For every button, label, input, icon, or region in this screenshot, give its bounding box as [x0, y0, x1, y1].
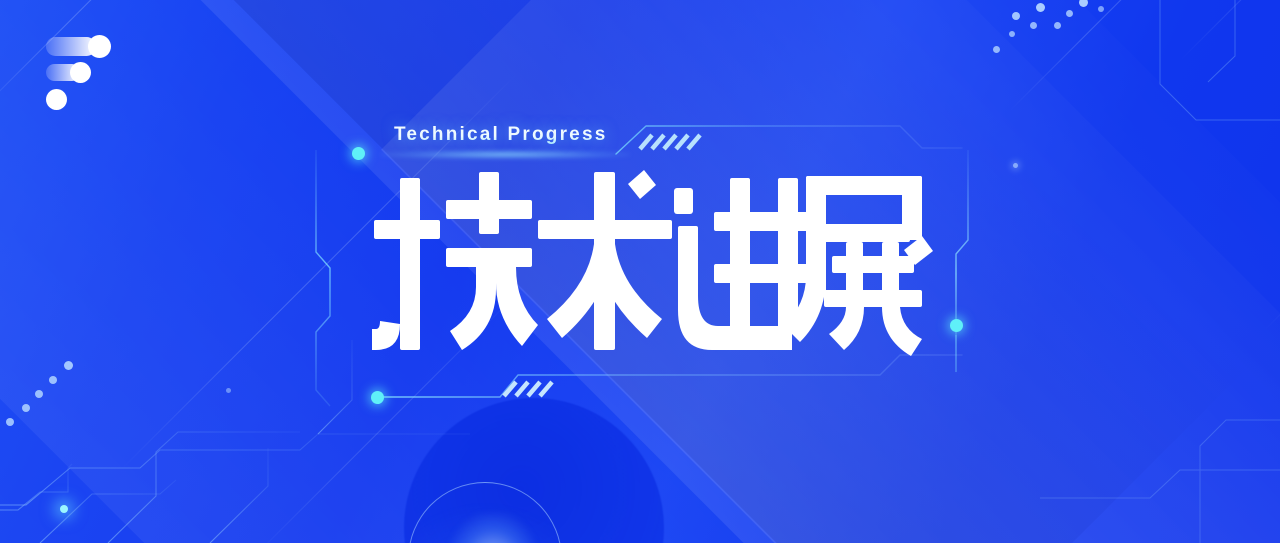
f-logo[interactable] — [46, 33, 118, 95]
circuit-traces-top-right — [1160, 0, 1280, 120]
headline-glyphs — [372, 170, 933, 356]
frame-right-segment — [956, 150, 968, 375]
node-top-left — [352, 147, 365, 160]
page-title — [372, 164, 912, 364]
node-right — [950, 319, 963, 332]
glyph-zhan — [784, 176, 933, 356]
circuit-traces-bottom-left — [0, 340, 470, 543]
sparkle-mid-left — [226, 388, 231, 393]
circuit-traces-bottom-right — [1040, 420, 1280, 543]
logo-dot-top — [88, 35, 111, 58]
logo-dot-middle — [70, 62, 91, 83]
logo-dot-bottom — [46, 89, 67, 110]
node-bottom-left — [371, 391, 384, 404]
frame-left-segment — [316, 150, 330, 406]
hatch-marks-top — [640, 135, 700, 149]
sparkle-right — [1013, 163, 1018, 168]
glyph-ji — [372, 172, 538, 350]
banner: Technical Progress — [0, 0, 1280, 543]
glyph-shu — [538, 170, 672, 350]
eyebrow-text: Technical Progress — [394, 124, 608, 146]
